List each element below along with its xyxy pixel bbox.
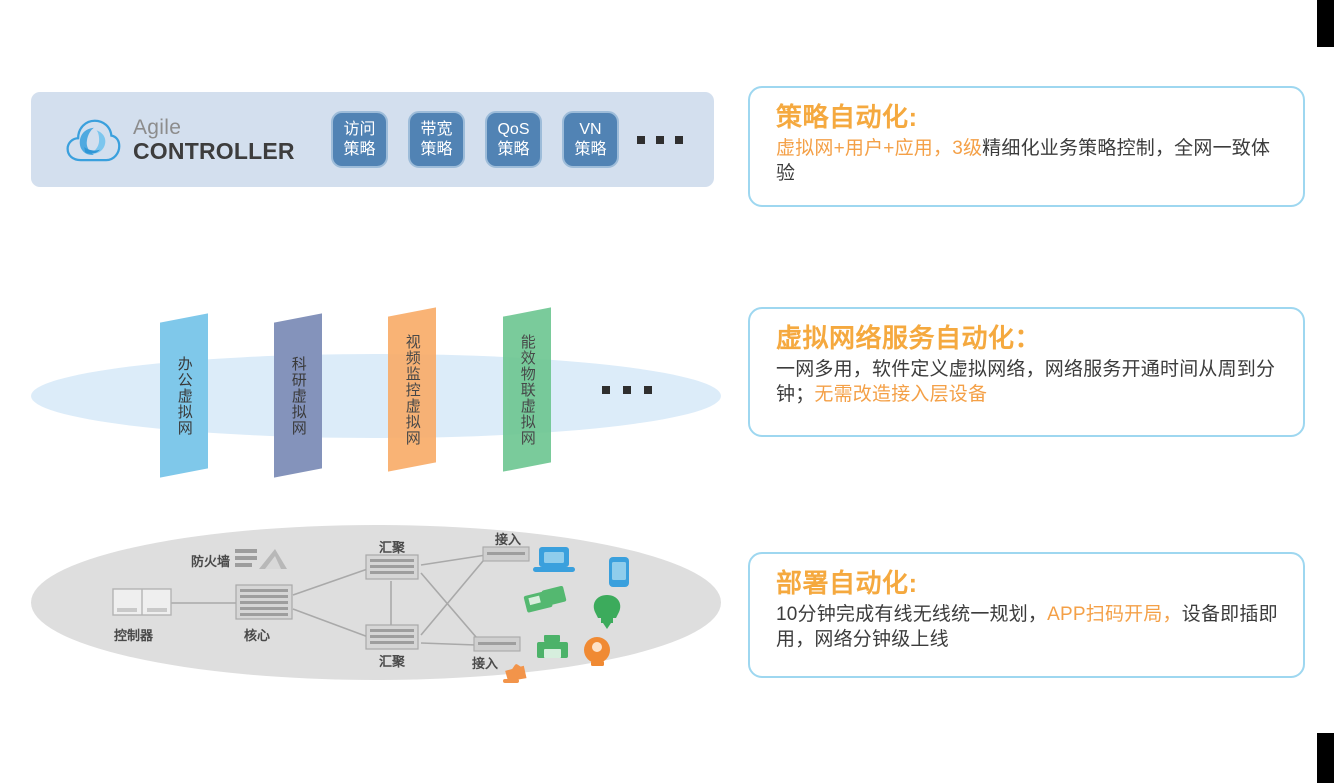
deployment-body-rest: 10分钟完成有线无线统一规划， [776, 604, 1047, 625]
topology-label-access-top: 接入 [495, 529, 521, 548]
controller-node-icon [113, 589, 171, 615]
virtual-network-service-automation-body: 一网多用，软件定义虚拟网络，网络服务开通时间从周到分钟；无需改造接入层设备 [776, 357, 1283, 408]
ellipsis-dot [602, 386, 610, 394]
slide-canvas: Agile CONTROLLER 访问 策略 带宽 策略 QoS 策略 VN 策… [0, 0, 1334, 783]
policy-chip-vn-line2: 策略 [574, 140, 606, 160]
network-topology-diagram: 控制器 防火墙 核心 汇聚 汇聚 接入 接入 [31, 525, 721, 690]
deployment-body-highlight: APP扫码开局， [1047, 604, 1182, 625]
policy-chip-access[interactable]: 访问 策略 [331, 111, 388, 168]
agile-controller-logo: Agile CONTROLLER [65, 116, 315, 164]
access-switch-top-icon [483, 547, 529, 561]
access-switch-bottom-icon [474, 637, 520, 651]
policy-more-ellipsis-icon[interactable] [637, 136, 683, 144]
light-bulb-icon [594, 595, 621, 629]
policy-chip-list: 访问 策略 带宽 策略 QoS 策略 VN 策略 [331, 111, 619, 168]
tablet-icon [609, 557, 629, 587]
logo-controller-text: CONTROLLER [133, 140, 295, 163]
topology-label-firewall: 防火墙 [191, 551, 230, 570]
ellipsis-dot [623, 386, 631, 394]
vn-plane-research: 科研虚拟网 [274, 313, 322, 477]
policy-automation-body-highlight: 虚拟网+用户+应用，3级 [776, 138, 982, 159]
topology-label-agg-bottom: 汇聚 [379, 651, 405, 670]
vn-plane-energy-iot-label: 能效物联虚拟网 [519, 334, 535, 446]
policy-automation-panel: 策略自动化: 虚拟网+用户+应用，3级精细化业务策略控制，全网一致体验 [748, 86, 1305, 207]
link-aggbottom-accessbottom [421, 643, 476, 645]
link-aggtop-accessbottom [421, 573, 476, 637]
ellipsis-dot [656, 136, 664, 144]
link-aggtop-accesstop [421, 555, 486, 565]
policy-chip-vn[interactable]: VN 策略 [562, 111, 619, 168]
sensor-meter-icon [523, 586, 566, 613]
policy-chip-bandwidth[interactable]: 带宽 策略 [408, 111, 465, 168]
bottom-right-black-bar [1317, 733, 1334, 783]
firewall-node-icon [235, 549, 287, 569]
vn-plane-office: 办公虚拟网 [160, 313, 208, 477]
vn-service-body-highlight: 无需改造接入层设备 [814, 384, 987, 405]
ellipsis-dot [644, 386, 652, 394]
deployment-automation-body: 10分钟完成有线无线统一规划，APP扫码开局，设备即插即用，网络分钟级上线 [776, 602, 1283, 653]
virtual-network-service-automation-title: 虚拟网络服务自动化： [776, 323, 1283, 354]
vn-plane-energy-iot: 能效物联虚拟网 [503, 307, 551, 471]
policy-automation-title: 策略自动化: [776, 102, 1283, 133]
policy-chip-bandwidth-line2: 策略 [420, 140, 452, 160]
vn-plane-office-label: 办公虚拟网 [176, 356, 192, 436]
topology-graphics [31, 525, 721, 690]
policy-chip-access-line2: 策略 [343, 140, 375, 160]
agile-controller-wordmark: Agile CONTROLLER [133, 117, 295, 163]
policy-chip-access-line1: 访问 [343, 120, 375, 140]
topology-label-agg-top: 汇聚 [379, 537, 405, 556]
policy-chip-vn-line1: VN [579, 120, 601, 140]
topology-label-core: 核心 [244, 625, 270, 644]
policy-chip-qos-line1: QoS [497, 120, 529, 140]
vn-more-ellipsis-icon [602, 386, 652, 394]
printer-icon [537, 635, 568, 658]
policy-chip-bandwidth-line1: 带宽 [420, 120, 452, 140]
policy-chip-qos[interactable]: QoS 策略 [485, 111, 542, 168]
cloud-swirl-icon [65, 116, 121, 164]
vn-plane-video-surveillance: 视频监控虚拟网 [388, 307, 436, 471]
bullet-camera-icon [503, 663, 528, 683]
top-right-black-bar [1317, 0, 1334, 47]
link-aggbottom-accesstop [421, 561, 483, 635]
virtual-network-service-automation-panel: 虚拟网络服务自动化： 一网多用，软件定义虚拟网络，网络服务开通时间从周到分钟；无… [748, 307, 1305, 437]
dome-camera-icon [584, 637, 610, 666]
topology-label-access-bottom: 接入 [472, 653, 498, 672]
agg-switch-bottom-icon [366, 625, 418, 649]
laptop-icon [533, 547, 575, 572]
ellipsis-dot [637, 136, 645, 144]
topology-label-controller: 控制器 [114, 625, 153, 644]
virtual-network-diagram: 办公虚拟网 科研虚拟网 视频监控虚拟网 能效物联虚拟网 [31, 296, 721, 496]
ellipsis-dot [675, 136, 683, 144]
core-switch-node-icon [236, 585, 292, 619]
deployment-automation-title: 部署自动化: [776, 568, 1283, 599]
vn-plane-video-surveillance-label: 视频监控虚拟网 [404, 334, 420, 446]
network-substrate-ellipse [31, 354, 721, 438]
policy-chip-qos-line2: 策略 [497, 140, 529, 160]
agile-controller-bar: Agile CONTROLLER 访问 策略 带宽 策略 QoS 策略 VN 策… [31, 92, 714, 187]
policy-automation-body: 虚拟网+用户+应用，3级精细化业务策略控制，全网一致体验 [776, 136, 1283, 187]
deployment-automation-panel: 部署自动化: 10分钟完成有线无线统一规划，APP扫码开局，设备即插即用，网络分… [748, 552, 1305, 678]
logo-agile-text: Agile [133, 117, 295, 138]
vn-plane-research-label: 科研虚拟网 [290, 356, 306, 436]
agg-switch-top-icon [366, 555, 418, 579]
